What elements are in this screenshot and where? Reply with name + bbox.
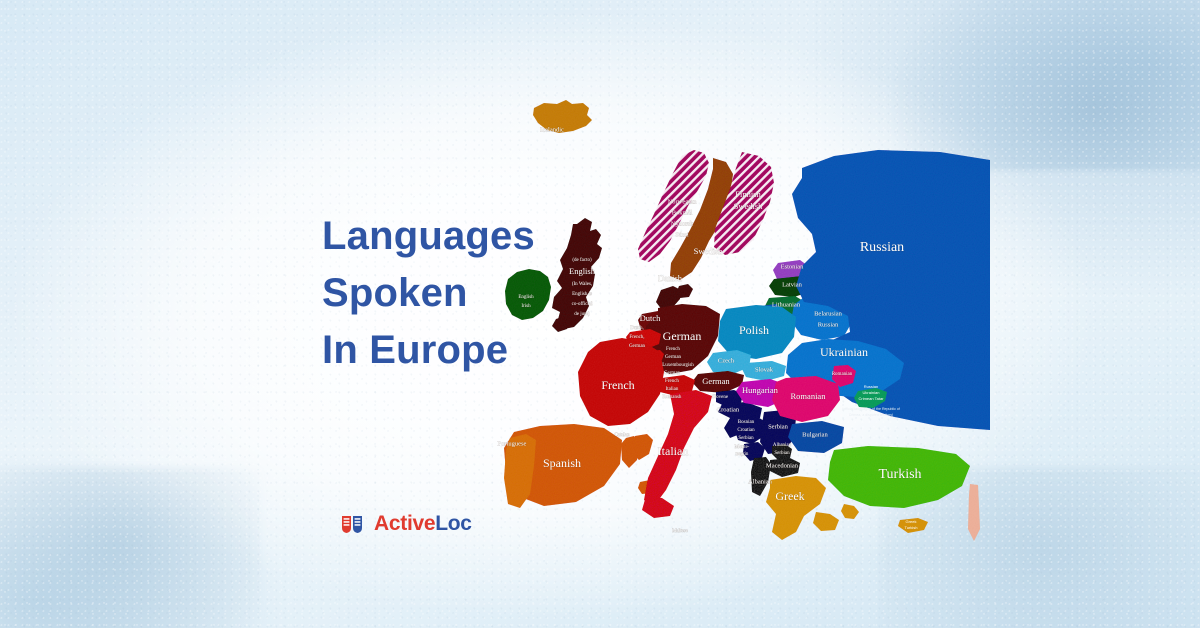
map-label-catalonia: Catalan — [614, 433, 630, 438]
map-label-norway-1: Norwegian — [668, 198, 698, 205]
map-label-bulgaria: Bulgarian — [802, 431, 828, 438]
brand-logo[interactable]: ActiveLoc — [341, 513, 472, 534]
map-label-bosnia-2: Croatian — [737, 428, 755, 433]
map-label-cyprus-2: Turkish — [905, 525, 918, 530]
map-label-netherlands: Dutch — [640, 313, 662, 323]
logo-text-loc: Loc — [435, 512, 471, 535]
map-label-hungary: Hungarian — [742, 385, 779, 395]
map-label-czechia: Czech — [718, 357, 735, 364]
map-label-kosovo-2: Serbian — [774, 451, 790, 456]
title-line-2: Spoken — [322, 265, 622, 322]
map-label-serbia: Serbian — [768, 423, 789, 430]
map-label-albania: Albanian — [748, 478, 773, 485]
map-label-luxembourg-2: German — [665, 355, 682, 360]
map-label-switzerland-1: German — [664, 371, 681, 376]
map-label-iceland: Icelandic — [540, 126, 564, 133]
map-label-portugal: Portuguese — [498, 440, 527, 447]
map-label-switzerland-2: French — [665, 379, 679, 384]
map-label-belgium-2: French, — [629, 335, 644, 340]
map-label-spain: Spanish — [543, 456, 581, 470]
map-label-poland: Polish — [739, 323, 769, 337]
map-label-crimea-note-2: Crimea, a disputed territory) — [849, 413, 894, 417]
map-label-norway-2: Bokmål — [672, 209, 693, 216]
map-label-belarus-1: Belarusian — [814, 310, 843, 317]
map-label-luxembourg-3: Luxembourgish — [662, 363, 694, 368]
map-label-switzerland-3: Italian — [666, 387, 679, 392]
page-title: Languages Spoken In Europe — [322, 208, 622, 379]
map-label-crimea-2: Ukrainian — [863, 390, 880, 395]
map-label-malta: Maltese — [672, 529, 689, 534]
map-label-crimea-3: Crimean Tatar — [858, 396, 884, 401]
map-label-finland-1: Finnish — [735, 189, 761, 199]
map-label-france: French — [601, 378, 634, 392]
map-label-romania: Romanian — [791, 391, 827, 401]
watercolor-wash-bottom-left — [0, 468, 260, 628]
map-label-austria: German — [702, 376, 730, 386]
map-label-germany: German — [663, 329, 702, 343]
map-label-italy: Italian — [658, 444, 689, 458]
map-label-norway-3: Nynorsk — [671, 220, 694, 227]
map-label-latvia: Latvian — [782, 281, 803, 288]
map-label-cyprus-1: Greek — [906, 519, 917, 524]
map-label-switzerland-4: Romansh — [663, 395, 682, 400]
logo-wordmark: ActiveLoc — [374, 513, 472, 534]
infographic-canvas: Languages Spoken In Europe ActiveLoc — [0, 0, 1200, 628]
map-label-kosovo-1: Albanian — [773, 443, 792, 448]
map-label-montenegro-1: Monte- — [735, 445, 750, 450]
map-label-lithuania: Lithuanian — [772, 301, 801, 308]
map-label-turkey: Turkish — [878, 467, 921, 482]
map-label-bosnia-1: Bosnian — [738, 420, 755, 425]
map-label-denmark: Danish — [658, 273, 683, 283]
map-label-belarus-2: Russian — [818, 321, 839, 328]
map-label-belgium-1: Dutch, — [630, 326, 643, 331]
map-label-greece: Greek — [775, 489, 804, 503]
map-label-crimea-note: (official languages of the Republic of — [842, 407, 900, 411]
title-line-3: In Europe — [322, 322, 622, 379]
map-label-bosnia-3: Serbian — [738, 436, 754, 441]
map-label-montenegro-2: negrin — [736, 452, 749, 457]
map-label-norway-4: Sámi — [675, 231, 689, 238]
map-label-russia: Russian — [860, 240, 904, 255]
map-label-ukraine: Ukrainian — [820, 345, 868, 359]
map-label-moldova: Romanian — [832, 372, 853, 377]
activeloc-shield-icon — [341, 514, 367, 534]
logo-text-active: Active — [374, 512, 435, 535]
map-label-crimea-1: Russian — [864, 384, 878, 389]
map-label-estonia: Estonian — [781, 263, 804, 270]
map-label-croatia: Croatian — [717, 406, 740, 413]
region-levant-sliver — [968, 484, 980, 541]
map-label-belgium-3: German — [629, 344, 646, 349]
map-label-slovakia: Slovak — [755, 366, 774, 373]
title-line-1: Languages — [322, 208, 622, 265]
map-label-north-macedonia: Macedonian — [766, 462, 799, 469]
map-label-sweden: Swedish — [694, 246, 724, 256]
map-label-slovenia: Slovene — [712, 395, 729, 400]
map-label-finland-2: Swedish — [734, 201, 764, 211]
map-label-luxembourg-1: French — [666, 347, 680, 352]
